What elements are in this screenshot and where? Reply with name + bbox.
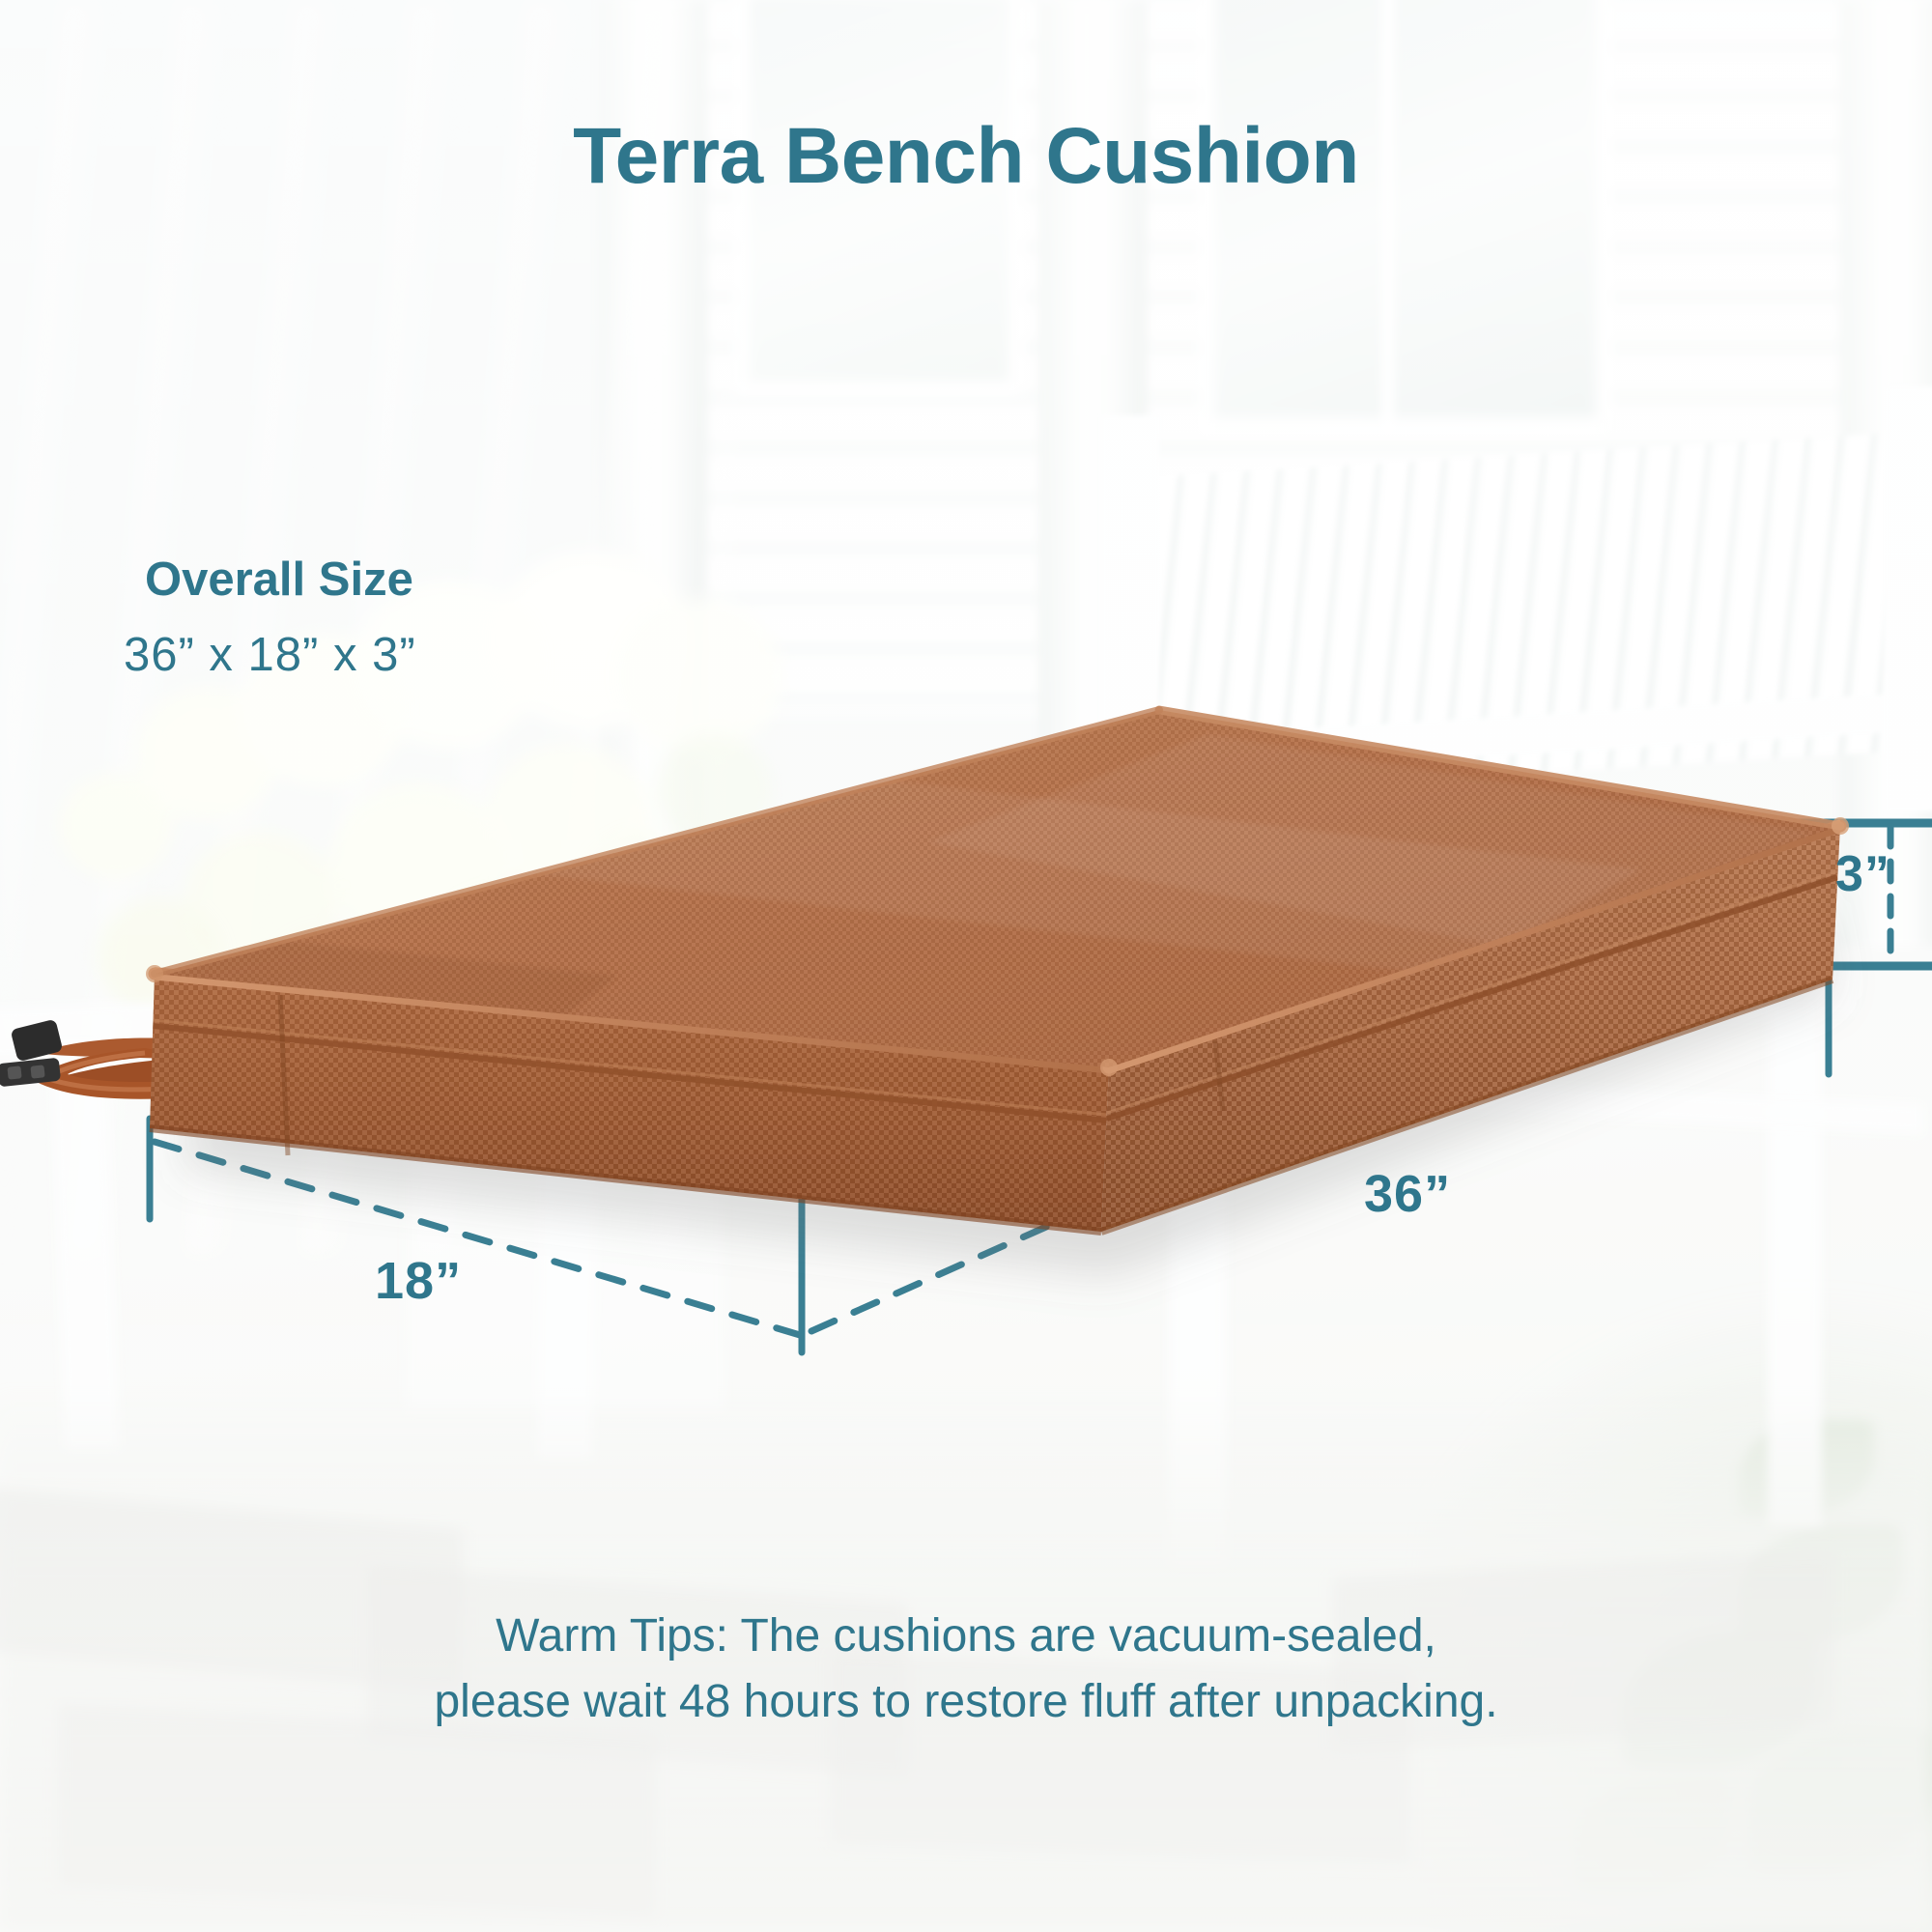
dimension-label-3: 3”	[1835, 845, 1890, 903]
buckle-slot-left	[7, 1065, 21, 1079]
warm-tips-line-1: Warm Tips: The cushions are vacuum-seale…	[0, 1604, 1932, 1669]
overall-size-label: Overall Size	[145, 553, 416, 607]
dimension-label-36: 36”	[1364, 1164, 1451, 1224]
buckle-slot-right	[30, 1065, 44, 1078]
left-corner-piping	[146, 965, 163, 982]
warm-tips-block: Warm Tips: The cushions are vacuum-seale…	[0, 1604, 1932, 1735]
front-corner-piping	[1100, 1059, 1118, 1076]
page-title: Terra Bench Cushion	[0, 111, 1932, 202]
overall-size-value: 36” x 18” x 3”	[124, 628, 416, 682]
right-corner-piping	[1832, 817, 1849, 835]
infographic-canvas: Terra Bench Cushion Overall Size 36” x 1…	[0, 0, 1932, 1932]
dimension-label-18: 18”	[375, 1251, 462, 1311]
overall-size-callout: Overall Size 36” x 18” x 3”	[145, 553, 416, 682]
strap-buckle-clip	[11, 1019, 64, 1063]
warm-tips-line-2: please wait 48 hours to restore fluff af…	[0, 1669, 1932, 1735]
